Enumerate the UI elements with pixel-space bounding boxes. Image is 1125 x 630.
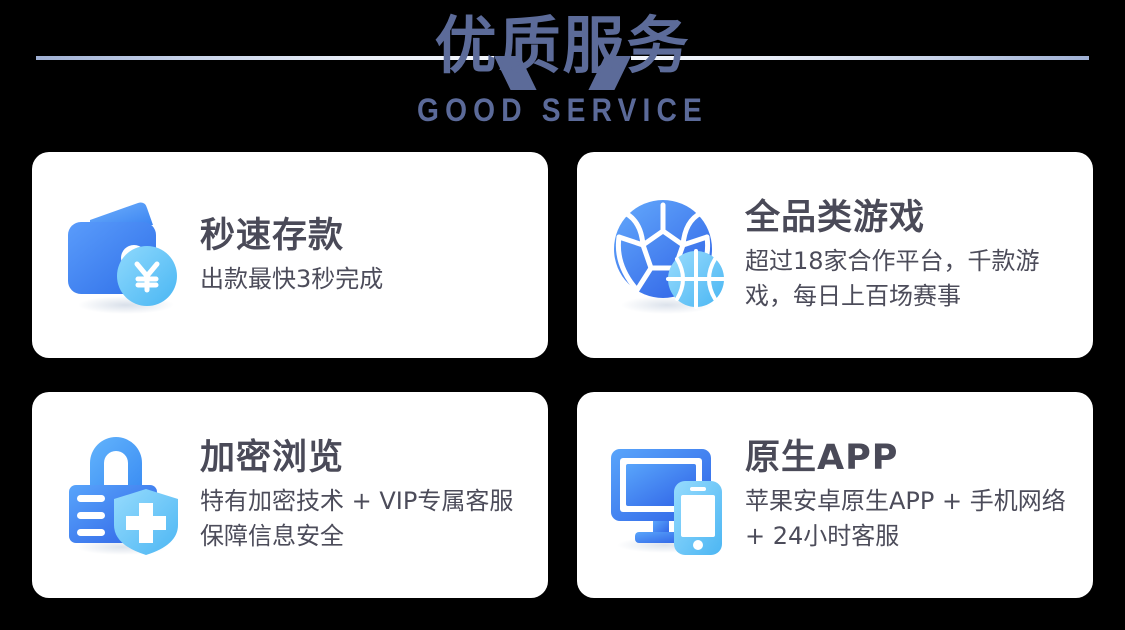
card-text-block: 原生APP 苹果安卓原生APP + 手机网络 + 24小时客服 (745, 436, 1071, 554)
card-text-block: 秒速存款 出款最快3秒完成 (200, 214, 526, 297)
card-subtitle: 超过18家合作平台，千款游戏，每日上百场赛事 (745, 244, 1071, 314)
wallet-yen-icon (60, 191, 188, 319)
page-title: 优质服务 (0, 0, 1125, 92)
card-subtitle: 出款最快3秒完成 (200, 262, 526, 297)
card-title: 全品类游戏 (745, 196, 1071, 240)
monitor-phone-icon (605, 431, 733, 559)
card-text-block: 加密浏览 特有加密技术 + VIP专属客服保障信息安全 (200, 436, 526, 554)
feature-card-native-app[interactable]: 原生APP 苹果安卓原生APP + 手机网络 + 24小时客服 (577, 392, 1093, 598)
card-subtitle: 特有加密技术 + VIP专属客服保障信息安全 (200, 484, 526, 554)
feature-card-grid: 秒速存款 出款最快3秒完成 (32, 152, 1093, 598)
soccer-basketball-icon (605, 191, 733, 319)
card-title: 秒速存款 (200, 214, 526, 258)
page-header: 优质服务 GOOD SERVICE (0, 0, 1125, 140)
page-subtitle: GOOD SERVICE (68, 92, 1058, 128)
card-text-block: 全品类游戏 超过18家合作平台，千款游戏，每日上百场赛事 (745, 196, 1071, 314)
card-subtitle: 苹果安卓原生APP + 手机网络 + 24小时客服 (745, 484, 1071, 554)
header-title-block: 优质服务 GOOD SERVICE (0, 0, 1125, 128)
feature-card-games[interactable]: 全品类游戏 超过18家合作平台，千款游戏，每日上百场赛事 (577, 152, 1093, 358)
feature-card-encryption[interactable]: 加密浏览 特有加密技术 + VIP专属客服保障信息安全 (32, 392, 548, 598)
lock-shield-icon (60, 431, 188, 559)
card-title: 加密浏览 (200, 436, 526, 480)
card-title: 原生APP (745, 436, 1071, 480)
feature-card-deposit[interactable]: 秒速存款 出款最快3秒完成 (32, 152, 548, 358)
